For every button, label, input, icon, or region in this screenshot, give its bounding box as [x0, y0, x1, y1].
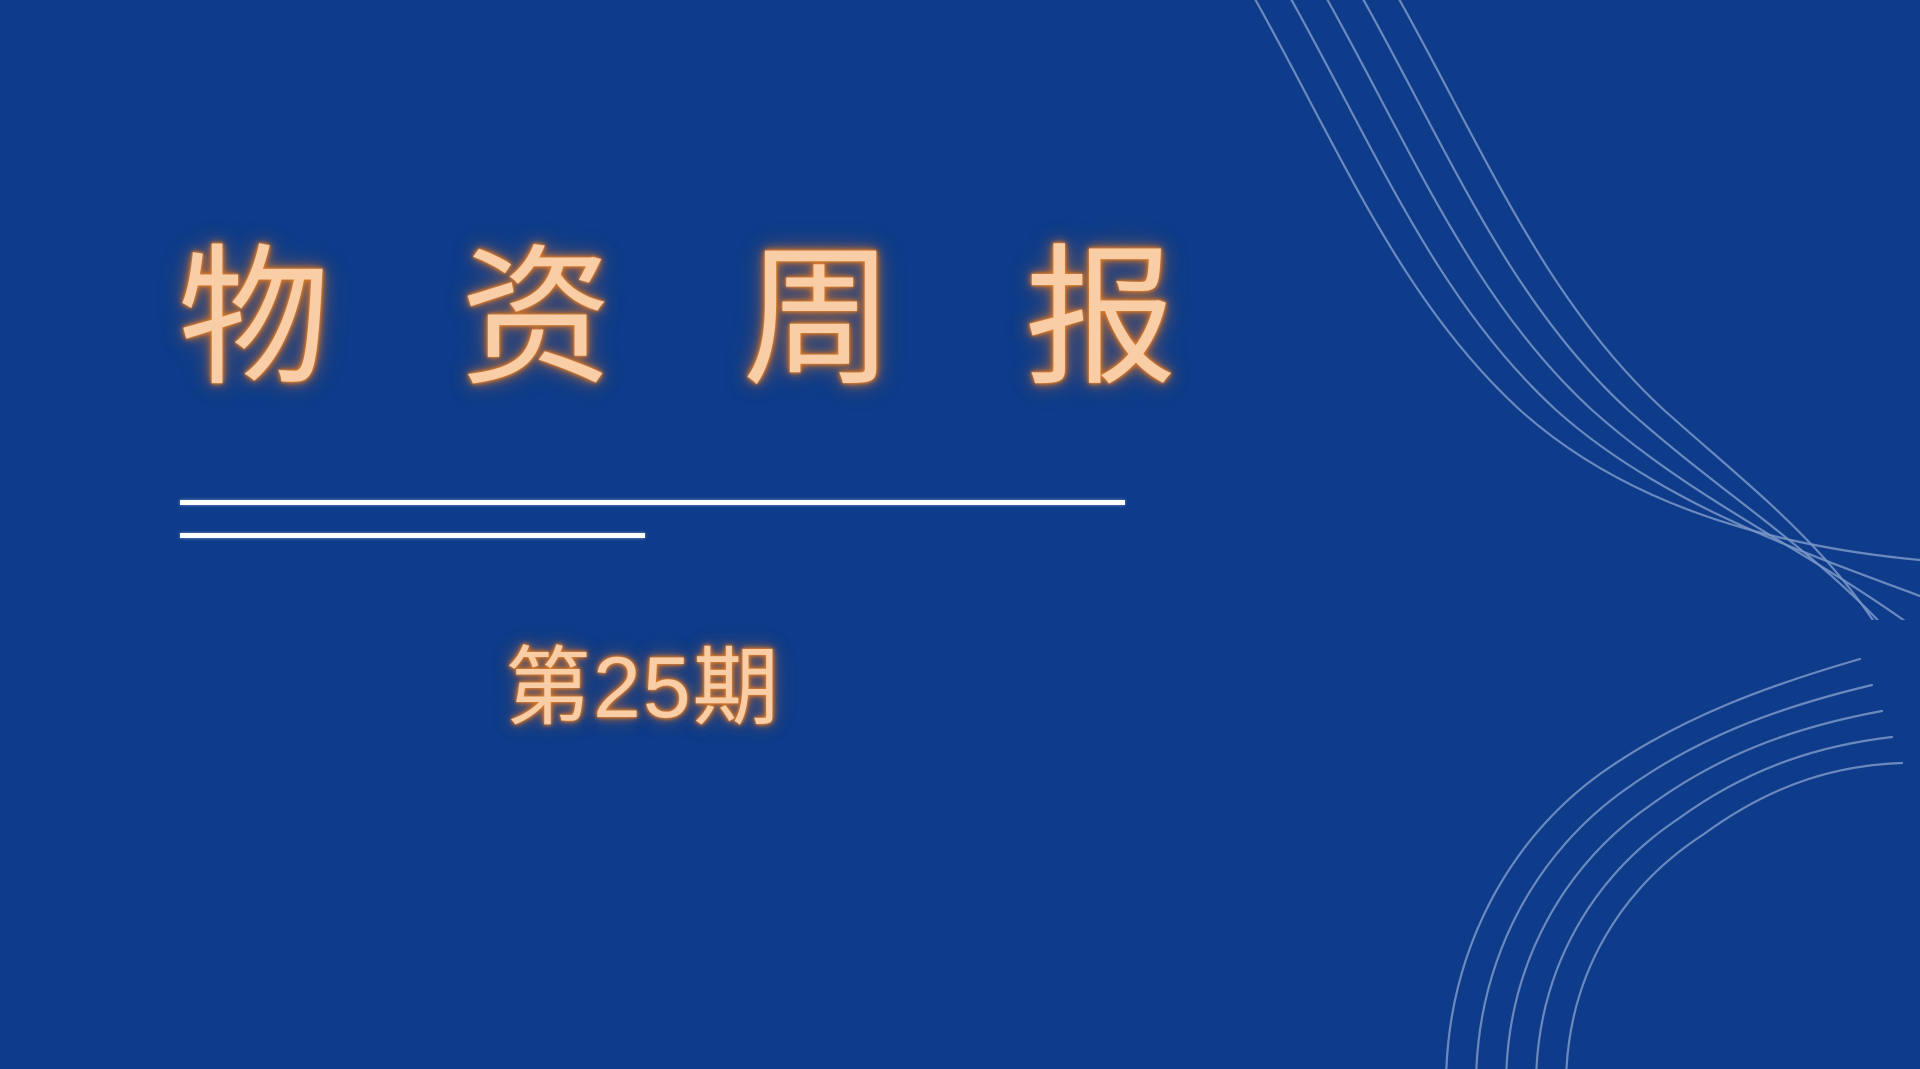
title-slide: 物 资 周 报 第25期	[0, 0, 1920, 1069]
title-underline-short	[180, 533, 645, 538]
title-underline-long	[180, 500, 1125, 505]
title-block: 物 资 周 报 第25期	[0, 0, 1920, 1069]
page-subtitle: 第25期	[505, 645, 781, 731]
page-title: 物 资 周 报	[178, 243, 1221, 395]
